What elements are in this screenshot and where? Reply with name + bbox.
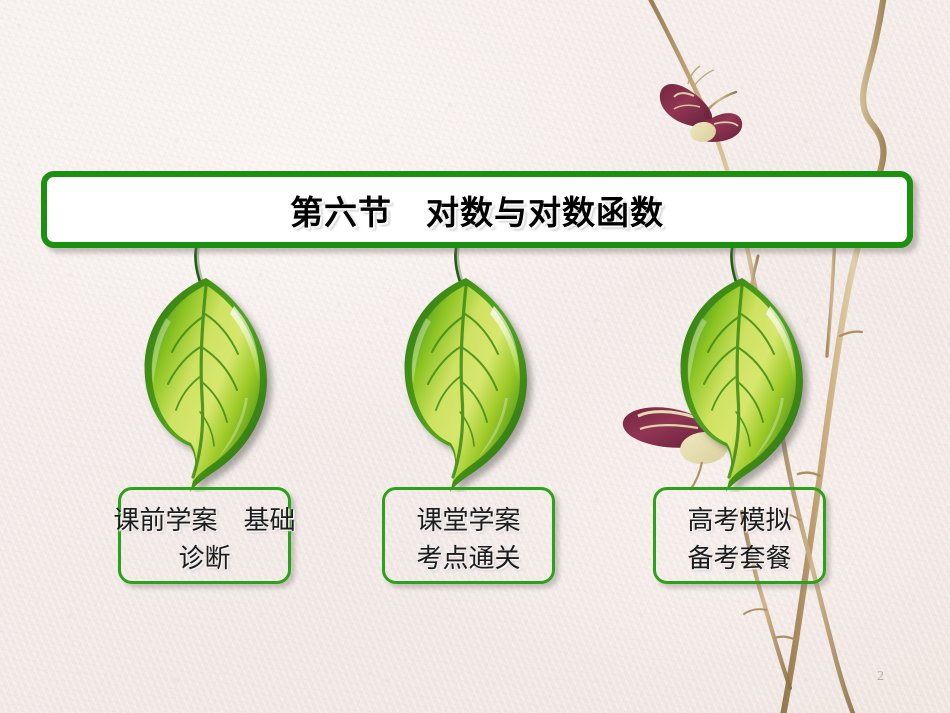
- page-number: 2: [877, 669, 884, 685]
- slide-canvas: 第六节 对数与对数函数: [0, 0, 950, 713]
- section-label-exam-prep[interactable]: 高考模拟 备考套餐: [648, 502, 831, 578]
- leaf-icon: [138, 272, 278, 492]
- slide-title-box: 第六节 对数与对数函数: [41, 171, 913, 248]
- section-label-pre-class[interactable]: 课前学案 基础 诊断: [113, 502, 296, 578]
- section-label-in-class[interactable]: 课堂学案 考点通关: [377, 502, 560, 578]
- leaf-icon: [674, 272, 814, 492]
- page-title: 第六节 对数与对数函数: [290, 186, 664, 234]
- leaf-icon: [398, 272, 538, 492]
